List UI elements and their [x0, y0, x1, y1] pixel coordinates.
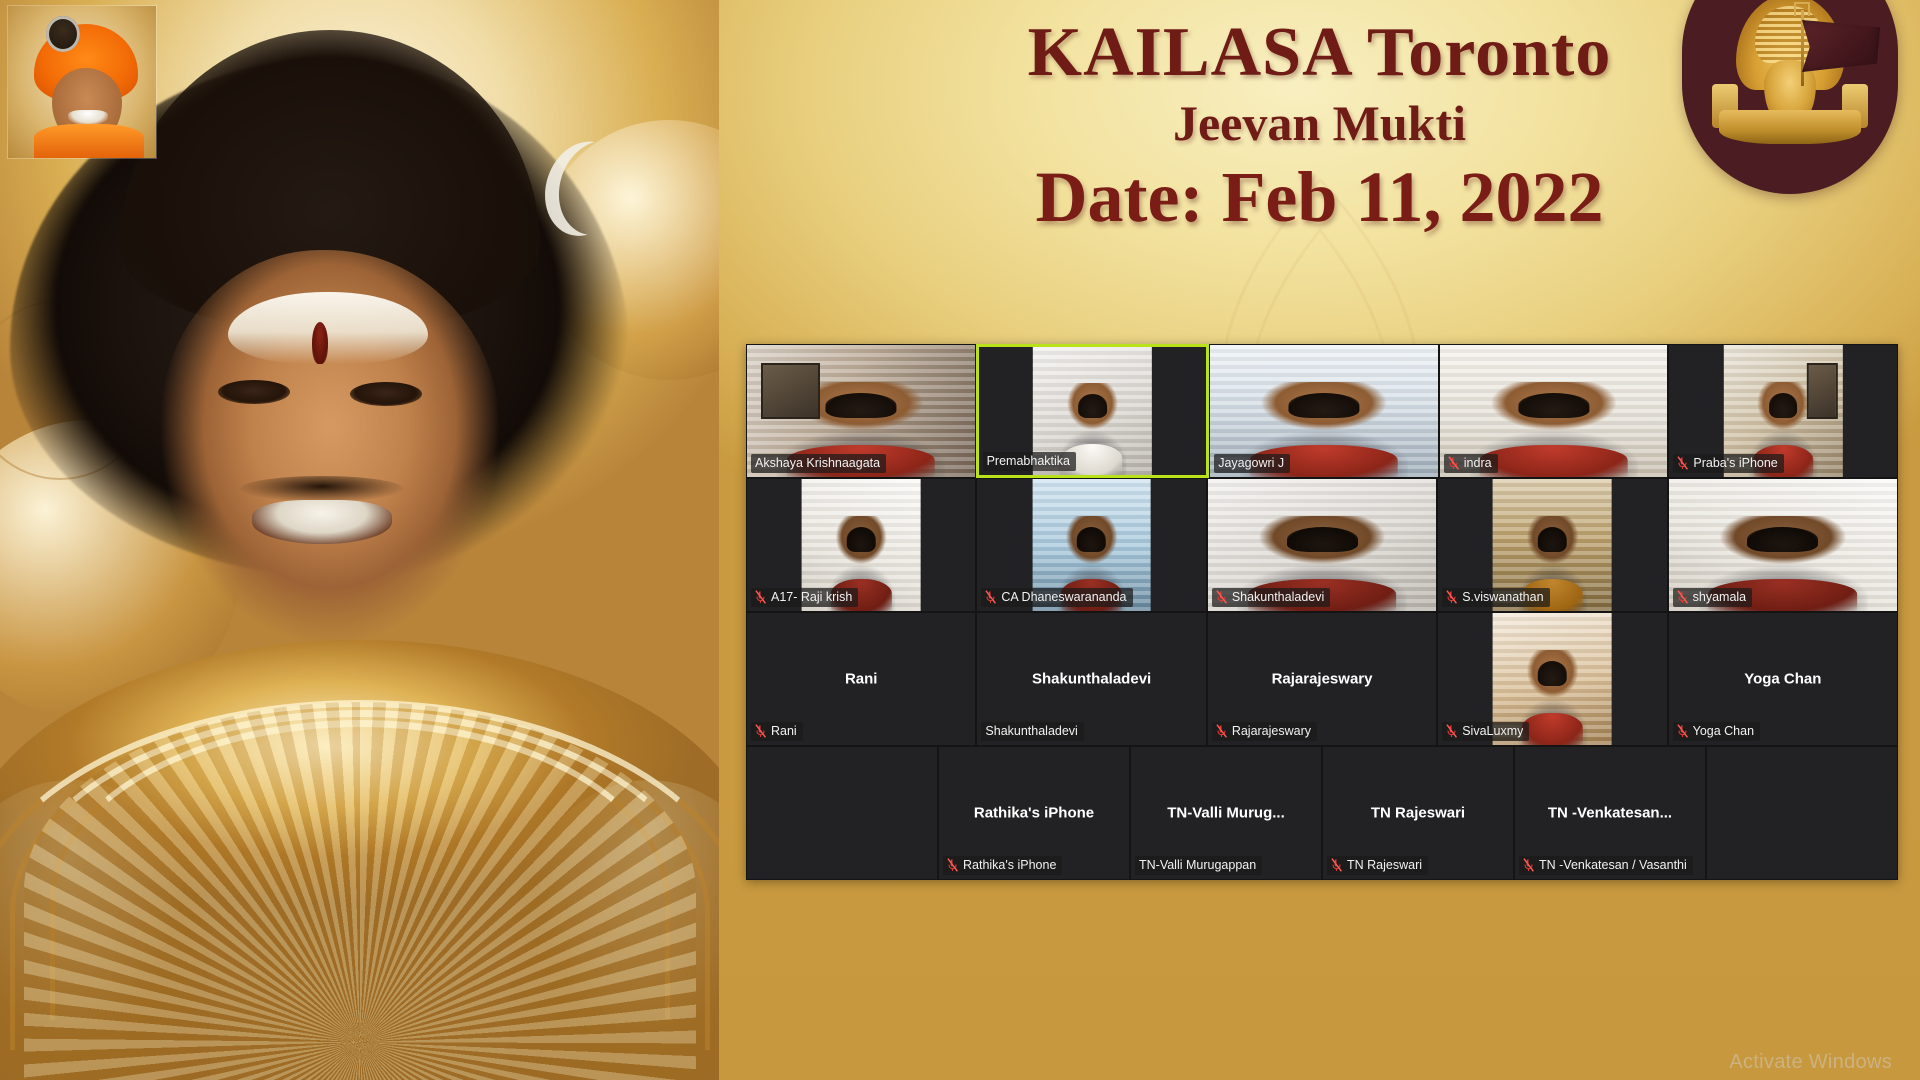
video-grid-row: A17- Raji krishCA DhaneswaranandaShakunt…	[746, 478, 1898, 612]
silhouette-hair	[1518, 393, 1589, 418]
participant-name-label: Praba's iPhone	[1693, 455, 1777, 471]
video-tile[interactable]: TN -Venkatesan...TN -Venkatesan / Vasant…	[1514, 746, 1706, 880]
silhouette-hair	[1289, 393, 1360, 418]
participant-name-plate: TN-Valli Murugappan	[1135, 856, 1262, 875]
guru-portrait-panel	[0, 0, 719, 1080]
video-tile[interactable]: A17- Raji krish	[746, 478, 976, 612]
participant-name-label: Jayagowri J	[1218, 455, 1284, 471]
microphone-muted-icon	[1216, 724, 1227, 738]
video-tile[interactable]: Yoga ChanYoga Chan	[1668, 612, 1898, 746]
participant-name-plate: indra	[1444, 454, 1498, 473]
silhouette-hair	[1287, 527, 1358, 552]
event-banner-panel: KAILASA Toronto Jeevan Mukti Date: Feb 1…	[719, 0, 1920, 1080]
participant-name-label: Rathika's iPhone	[963, 857, 1056, 873]
participant-center-name: Rathika's iPhone	[939, 805, 1129, 822]
silhouette-hair	[847, 527, 876, 552]
video-grid-row: Akshaya KrishnaagataPremabhaktikaJayagow…	[746, 344, 1898, 478]
inset-robe	[34, 124, 144, 158]
activate-windows-watermark: Activate Windows	[1729, 1051, 1892, 1074]
microphone-muted-icon	[947, 858, 958, 872]
participant-name-plate: CA Dhaneswarananda	[981, 588, 1132, 607]
participant-name-plate: Rani	[751, 722, 803, 741]
participant-center-name: Yoga Chan	[1669, 671, 1897, 688]
silhouette-hair	[1769, 393, 1798, 418]
silhouette-hair	[1538, 527, 1567, 552]
microphone-muted-icon	[1677, 724, 1688, 738]
silhouette-hair	[1077, 527, 1106, 552]
video-tile[interactable]: Akshaya Krishnaagata	[746, 344, 976, 478]
participant-name-plate: TN Rajeswari	[1327, 856, 1428, 875]
participant-name-plate: SivaLuxmy	[1442, 722, 1529, 741]
microphone-muted-icon	[985, 590, 996, 604]
video-tile[interactable]: Rathika's iPhoneRathika's iPhone	[938, 746, 1130, 880]
participant-center-name: Rani	[747, 671, 975, 688]
participant-center-name: TN-Valli Murug...	[1131, 805, 1321, 822]
silhouette-hair	[1747, 527, 1818, 552]
participant-name-plate: S.viswanathan	[1442, 588, 1549, 607]
participant-name-label: S.viswanathan	[1462, 589, 1543, 605]
video-tile[interactable]: RajarajeswaryRajarajeswary	[1207, 612, 1437, 746]
participant-name-label: SivaLuxmy	[1462, 723, 1523, 739]
inset-badge	[46, 16, 80, 52]
participant-name-plate: shyamala	[1673, 588, 1753, 607]
portrait-tilak	[312, 322, 328, 364]
video-tile[interactable]: S.viswanathan	[1437, 478, 1667, 612]
participant-name-label: TN-Valli Murugappan	[1139, 857, 1256, 873]
video-grid: Akshaya KrishnaagataPremabhaktikaJayagow…	[746, 344, 1898, 880]
microphone-muted-icon	[1677, 590, 1688, 604]
video-tile-empty	[746, 746, 938, 880]
participant-name-label: A17- Raji krish	[771, 589, 852, 605]
microphone-muted-icon	[1523, 858, 1534, 872]
microphone-muted-icon	[1446, 724, 1457, 738]
portrait-smile	[252, 500, 392, 544]
portrait-golden-necklace	[0, 640, 719, 1080]
portrait-eye-right	[350, 382, 422, 406]
video-tile[interactable]: shyamala	[1668, 478, 1898, 612]
participant-name-plate: Praba's iPhone	[1673, 454, 1783, 473]
video-tile[interactable]: ShakunthaladeviShakunthaladevi	[976, 612, 1206, 746]
microphone-muted-icon	[755, 590, 766, 604]
participant-name-label: TN Rajeswari	[1347, 857, 1422, 873]
portrait-eye-left	[218, 380, 290, 404]
participant-name-label: Premabhaktika	[987, 453, 1070, 469]
participant-name-label: Shakunthaladevi	[985, 723, 1077, 739]
silhouette-clothing	[1522, 713, 1583, 745]
video-tile[interactable]: indra	[1439, 344, 1669, 478]
microphone-muted-icon	[1446, 590, 1457, 604]
participant-name-label: Yoga Chan	[1693, 723, 1754, 739]
microphone-muted-icon	[755, 724, 766, 738]
participant-name-label: CA Dhaneswarananda	[1001, 589, 1126, 605]
video-tile[interactable]: TN-Valli Murug...TN-Valli Murugappan	[1130, 746, 1322, 880]
participant-name-plate: Yoga Chan	[1673, 722, 1760, 741]
participant-name-label: shyamala	[1693, 589, 1747, 605]
video-grid-row: RaniRaniShakunthaladeviShakunthaladeviRa…	[746, 612, 1898, 746]
microphone-muted-icon	[1677, 456, 1688, 470]
silhouette-clothing	[1479, 445, 1627, 477]
silhouette-hair	[1078, 394, 1107, 418]
silhouette-hair	[1538, 661, 1567, 686]
video-tile[interactable]: Praba's iPhone	[1668, 344, 1898, 478]
background-picture-frame	[761, 363, 820, 418]
video-tile[interactable]: Jayagowri J	[1209, 344, 1439, 478]
participant-name-plate: Jayagowri J	[1214, 454, 1290, 473]
microphone-muted-icon	[1448, 456, 1459, 470]
video-tile-empty	[1706, 746, 1898, 880]
video-tile[interactable]: TN RajeswariTN Rajeswari	[1322, 746, 1514, 880]
participant-name-label: TN -Venkatesan / Vasanthi	[1539, 857, 1687, 873]
microphone-muted-icon	[1216, 590, 1227, 604]
participant-name-plate: Shakunthaladevi	[1212, 588, 1330, 607]
participant-name-plate: A17- Raji krish	[751, 588, 858, 607]
participant-name-plate: Shakunthaladevi	[981, 722, 1083, 741]
participant-name-plate: Premabhaktika	[983, 452, 1076, 471]
background-picture-frame	[1807, 363, 1838, 418]
microphone-muted-icon	[1331, 858, 1342, 872]
participant-name-label: Akshaya Krishnaagata	[755, 455, 880, 471]
participant-name-label: Rani	[771, 723, 797, 739]
logo-pedestal	[1719, 110, 1861, 144]
participant-name-label: indra	[1464, 455, 1492, 471]
logo-flag-icon	[1802, 20, 1880, 72]
participant-name-plate: Rathika's iPhone	[943, 856, 1062, 875]
video-tile[interactable]: CA Dhaneswarananda	[976, 478, 1206, 612]
portrait-moustache	[240, 476, 404, 502]
participant-center-name: TN Rajeswari	[1323, 805, 1513, 822]
video-tile[interactable]: RaniRani	[746, 612, 976, 746]
video-tile[interactable]: Shakunthaladevi	[1207, 478, 1437, 612]
participant-name-plate: Rajarajeswary	[1212, 722, 1317, 741]
video-grid-row: Rathika's iPhoneRathika's iPhoneTN-Valli…	[746, 746, 1898, 880]
participant-name-label: Shakunthaladevi	[1232, 589, 1324, 605]
guru-inset-photo	[8, 6, 156, 158]
screen-root: KAILASA Toronto Jeevan Mukti Date: Feb 1…	[0, 0, 1920, 1080]
participant-name-plate: Akshaya Krishnaagata	[751, 454, 886, 473]
participant-center-name: Rajarajeswary	[1208, 671, 1436, 688]
inset-smile	[68, 110, 108, 125]
participant-center-name: TN -Venkatesan...	[1515, 805, 1705, 822]
participant-center-name: Shakunthaladevi	[977, 671, 1205, 688]
participant-name-plate: TN -Venkatesan / Vasanthi	[1519, 856, 1693, 875]
video-tile[interactable]: SivaLuxmy	[1437, 612, 1667, 746]
video-tile[interactable]: Premabhaktika	[976, 344, 1210, 478]
participant-name-label: Rajarajeswary	[1232, 723, 1311, 739]
silhouette-hair	[825, 393, 896, 418]
